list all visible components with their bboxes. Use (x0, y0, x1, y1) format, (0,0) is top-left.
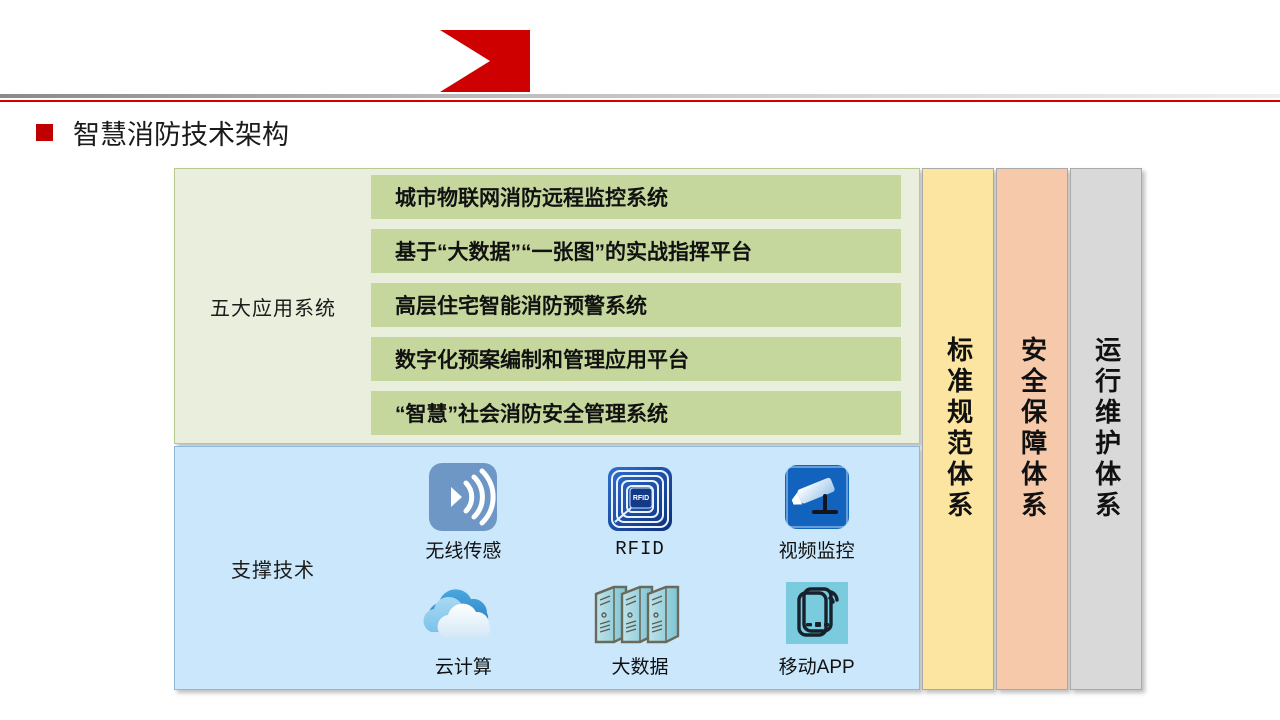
banner-shape: 二、智慧消防建设重点项目 (0, 30, 530, 92)
architecture-diagram: 五大应用系统 城市物联网消防远程监控系统 基于“大数据”“一张图”的实战指挥平台… (174, 168, 1142, 690)
vertical-column-label: 安全保障体系 (1018, 336, 1045, 522)
tech-item-wireless-sensor[interactable]: 无线传感 (375, 453, 552, 569)
tech-item-label: 移动APP (779, 652, 855, 679)
mobile-app-icon (786, 576, 848, 650)
rfid-icon: RFID (605, 462, 675, 536)
vertical-column-security[interactable]: 安全保障体系 (996, 168, 1068, 690)
support-technology-panel-label: 支撑技术 (175, 447, 371, 689)
tech-item-label: 视频监控 (779, 536, 855, 563)
tech-item-big-data[interactable]: 大数据 (552, 569, 729, 685)
vertical-column-standards[interactable]: 标准规范体系 (922, 168, 994, 690)
tech-item-mobile-app[interactable]: 移动APP (728, 569, 905, 685)
page-title: 二、智慧消防建设重点项目 (0, 37, 434, 86)
tech-item-label: 大数据 (611, 652, 668, 679)
bullet-square-icon (36, 124, 53, 141)
application-row[interactable]: 高层住宅智能消防预警系统 (371, 283, 901, 327)
application-row[interactable]: 基于“大数据”“一张图”的实战指挥平台 (371, 229, 901, 273)
tech-item-video-surveillance[interactable]: 视频监控 (728, 453, 905, 569)
section-heading: 智慧消防技术架构 (36, 113, 289, 152)
tech-item-label: RFID (615, 538, 665, 560)
slide-canvas: 二、智慧消防建设重点项目 智慧消防技术架构 五大应用系统 城市物联网消防远程监控… (0, 0, 1280, 720)
support-technology-panel: 支撑技术 无线传感 (174, 446, 920, 690)
big-data-servers-icon (592, 576, 688, 650)
application-row[interactable]: “智慧”社会消防安全管理系统 (371, 391, 901, 435)
vertical-column-operations[interactable]: 运行维护体系 (1070, 168, 1142, 690)
application-row[interactable]: 数字化预案编制和管理应用平台 (371, 337, 901, 381)
video-surveillance-icon (785, 460, 849, 534)
divider-red (0, 100, 1280, 102)
section-heading-label: 智慧消防技术架构 (73, 113, 289, 152)
vertical-column-label: 标准规范体系 (944, 336, 971, 522)
applications-panel-label: 五大应用系统 (175, 169, 371, 443)
support-technology-grid: 无线传感 (371, 447, 919, 689)
application-row[interactable]: 城市物联网消防远程监控系统 (371, 175, 901, 219)
vertical-column-label: 运行维护体系 (1092, 336, 1119, 522)
applications-panel: 五大应用系统 城市物联网消防远程监控系统 基于“大数据”“一张图”的实战指挥平台… (174, 168, 920, 444)
tech-item-label: 无线传感 (425, 536, 501, 563)
divider-gray (0, 94, 1280, 98)
title-banner: 二、智慧消防建设重点项目 (0, 30, 540, 94)
tech-item-cloud-computing[interactable]: 云计算 (375, 569, 552, 685)
cloud-computing-icon (417, 576, 509, 650)
tech-item-label: 云计算 (435, 652, 492, 679)
svg-text:RFID: RFID (633, 495, 649, 502)
applications-row-list: 城市物联网消防远程监控系统 基于“大数据”“一张图”的实战指挥平台 高层住宅智能… (371, 169, 919, 443)
tech-item-rfid[interactable]: RFID RFID (552, 453, 729, 569)
wireless-sensor-icon (429, 460, 497, 534)
